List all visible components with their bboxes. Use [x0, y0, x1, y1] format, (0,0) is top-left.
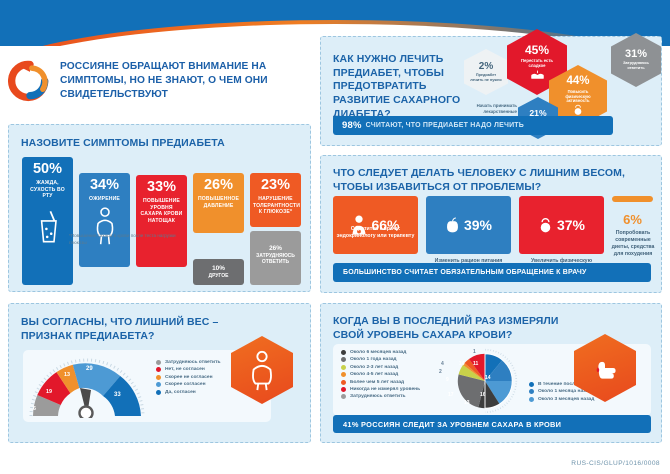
legend-dot-icon — [156, 367, 161, 372]
actions-summary-banner: БОЛЬШИНСТВО СЧИТАЕТ ОБЯЗАТЕЛЬНЫМ ОБРАЩЕН… — [333, 263, 651, 282]
symptom-extra-pct-1: 10% — [196, 265, 241, 272]
pie-value-14a: 14 — [485, 375, 491, 381]
symptom-extra-hard: 26% ЗАТРУДНЯЮСЬ ОТВЕТИТЬ — [250, 231, 301, 285]
infographic-page: РОССИЯНЕ ОБРАЩАЮТ ВНИМАНИЕ НА СИМПТОМЫ, … — [0, 0, 670, 474]
gauge-value-4: 33 — [114, 392, 121, 398]
symptom-extra-label-2: ЗАТРУДНЯЮСЬ ОТВЕТИТЬ — [253, 253, 298, 266]
page-header: РОССИЯНЕ ОБРАЩАЮТ ВНИМАНИЕ НА СИМПТОМЫ, … — [8, 52, 308, 110]
pie-chart — [451, 347, 519, 415]
circular-arrow-logo-icon — [8, 59, 52, 103]
action-label-66: Обратится к врачу: эндокринологу или тер… — [333, 226, 418, 240]
treatment-pct-45: 45% — [525, 44, 549, 56]
symptom-label-3: ПОВЫШЕНИЕ УРОВНЯ САХАРА КРОВИ НАТОЩАК — [139, 198, 184, 224]
symptoms-title: НАЗОВИТЕ СИМПТОМЫ ПРЕДИАБЕТА — [21, 137, 291, 151]
legend-label: Скорее согласен — [165, 382, 206, 387]
pie-value-14b: 14 — [459, 361, 465, 367]
legend-item: Более чем 5 лет назад — [341, 380, 420, 385]
treatment-summary-banner: 98% СЧИТАЮТ, ЧТО ПРЕДИАБЕТ НАДО ЛЕЧИТЬ — [333, 116, 613, 135]
action-card-66[interactable]: 66% — [333, 196, 418, 254]
symptoms-panel: НАЗОВИТЕ СИМПТОМЫ ПРЕДИАБЕТА 50% ЖАЖДА, … — [8, 124, 311, 292]
kettlebell-icon — [538, 217, 553, 234]
legend-item: Около 4-5 лет назад — [341, 372, 420, 377]
action-pct-37: 37% — [557, 217, 585, 233]
legend-dot-icon — [529, 389, 534, 394]
legend-dot-icon — [341, 372, 346, 377]
legend-dot-icon — [341, 380, 346, 385]
legend-label: Затрудняюсь ответить — [165, 360, 220, 365]
kettlebell-icon — [572, 104, 584, 116]
glass-of-water-icon — [36, 208, 60, 245]
gauge-value-0: 6 — [33, 406, 36, 412]
symptom-extra-pct-2: 26% — [253, 245, 298, 252]
pie-value-16: 16 — [480, 392, 486, 398]
gauge-value-2: 13 — [64, 372, 70, 378]
finger-blood-test-icon — [590, 353, 620, 383]
symptom-extra-label-1: ДРУГОЕ — [196, 273, 241, 279]
page-title: РОССИЯНЕ ОБРАЩАЮТ ВНИМАНИЕ НА СИМПТОМЫ, … — [60, 60, 308, 101]
legend-item: Около 3 месяцев назад — [529, 397, 609, 402]
pie-value-11: 11 — [473, 361, 478, 367]
actions-cards: 66% Обратится к врачу: эндокринологу или… — [333, 196, 653, 254]
legend-dot-icon — [156, 390, 161, 395]
obese-person-icon — [248, 350, 276, 391]
symptom-extra-other: 10% ДРУГОЕ — [193, 259, 244, 285]
legend-label: Никогда не измерял уровень — [350, 387, 420, 392]
action-bar-6[interactable] — [612, 196, 653, 202]
action-pct-39: 39% — [464, 217, 492, 233]
symptoms-footnote: *Повышение сахара в крови после теста на… — [69, 233, 177, 246]
treatment-label-2: Предиабет лечить не нужно — [470, 73, 502, 82]
action-card-39[interactable]: 39% — [426, 196, 511, 254]
blood-sugar-panel: КОГДА ВЫ В ПОСЛЕДНИЙ РАЗ ИЗМЕРЯЛИ СВОЙ У… — [320, 303, 662, 443]
treatment-label-44: Повысить физическую активность — [557, 89, 599, 104]
symptoms-bar-chart: 50% ЖАЖДА, СУХОСТЬ ВО РТУ 34% ОЖИРЕНИЕ — [22, 157, 300, 285]
treatment-panel: КАК НУЖНО ЛЕЧИТЬ ПРЕДИАБЕТ, ЧТОБЫ ПРЕДОТ… — [320, 36, 662, 146]
pie-value-9: 9 — [446, 377, 449, 383]
legend-dot-icon — [156, 375, 161, 380]
treatment-label-31: Затрудняюсь ответить — [618, 61, 654, 71]
pie-value-4: 4 — [441, 361, 444, 367]
treatment-pct-2: 2% — [479, 62, 493, 72]
legend-label: Около 1 года назад — [350, 357, 397, 362]
treatment-label-45: Перестать есть сладкое — [516, 58, 558, 68]
treatment-option-2[interactable]: 2% Предиабет лечить не нужно — [464, 49, 508, 95]
symptom-pct-5: 23% — [253, 178, 298, 193]
legend-dot-icon — [341, 387, 346, 392]
legend-dot-icon — [156, 382, 161, 387]
legend-dot-icon — [341, 394, 346, 399]
symptom-label-1: ЖАЖДА, СУХОСТЬ ВО РТУ — [25, 180, 70, 200]
legend-dot-icon — [341, 350, 346, 355]
legend-label: Нет, не согласен — [165, 367, 205, 372]
legend-item: Около 1 года назад — [341, 357, 420, 362]
treatment-option-31[interactable]: 31% Затрудняюсь ответить — [611, 33, 661, 87]
gauge-legend: Затрудняюсь ответить Нет, не согласен Ск… — [156, 360, 220, 397]
legend-label: Скорее не согласен — [165, 375, 213, 380]
gauge-panel: ВЫ СОГЛАСНЫ, ЧТО ЛИШНИЙ ВЕС – ПРИЗНАК ПР… — [8, 303, 311, 443]
legend-dot-icon — [529, 382, 534, 387]
action-pct-6: 6% — [612, 212, 653, 227]
gauge-chart — [27, 354, 147, 418]
legend-dot-icon — [156, 360, 161, 365]
legend-dot-icon — [341, 357, 346, 362]
legend-item: Да, согласен — [156, 390, 220, 395]
blood-sugar-summary-banner: 41% РОССИЯН СЛЕДИТ ЗА УРОВНЕМ САХАРА В К… — [333, 415, 651, 433]
legend-dot-icon — [341, 365, 346, 370]
legend-item: Нет, не согласен — [156, 367, 220, 372]
legend-item: Затрудняюсь ответить — [156, 360, 220, 365]
legend-item: Скорее согласен — [156, 382, 220, 387]
actions-panel: ЧТО СЛЕДУЕТ ДЕЛАТЬ ЧЕЛОВЕКУ С ЛИШНИМ ВЕС… — [320, 155, 662, 293]
legend-label: Около 4-5 лет назад — [350, 372, 398, 377]
treatment-banner-pct: 98% — [342, 120, 362, 131]
pie-value-2: 2 — [439, 369, 442, 375]
action-label-6: Попробовать современные диеты, средства … — [607, 230, 659, 258]
pie-value-13: 13 — [464, 400, 470, 406]
symptom-pct-3: 33% — [139, 180, 184, 195]
pie-value-1: 1 — [473, 349, 476, 355]
blood-sugar-title: КОГДА ВЫ В ПОСЛЕДНИЙ РАЗ ИЗМЕРЯЛИ СВОЙ У… — [333, 315, 583, 342]
pie-value-17: 17 — [448, 392, 454, 398]
legend-label: Около 2-3 лет назад — [350, 365, 398, 370]
legend-item: Около 6 месяцев назад — [341, 350, 420, 355]
gauge-title: ВЫ СОГЛАСНЫ, ЧТО ЛИШНИЙ ВЕС – ПРИЗНАК ПР… — [21, 316, 231, 343]
action-card-37[interactable]: 37% — [519, 196, 604, 254]
legend-item: Скорее не согласен — [156, 375, 220, 380]
treatment-pct-44: 44% — [566, 76, 589, 88]
gauge-value-1: 19 — [46, 389, 52, 395]
symptom-label-2: ОЖИРЕНИЕ — [82, 196, 127, 203]
legend-label: Затрудняюсь ответить — [350, 394, 405, 399]
symptom-pct-4: 26% — [196, 178, 241, 193]
footer-reference-code: RUS-CIS/GLUP/1016/0008 — [571, 460, 660, 467]
legend-label: Да, согласен — [165, 390, 196, 395]
symptom-label-5: НАРУШЕНИЕ ТОЛЕРАНТНОСТИ К ГЛЮКОЗЕ* — [253, 196, 298, 216]
legend-label: Около 6 месяцев назад — [350, 350, 406, 355]
legend-dot-icon — [529, 397, 534, 402]
legend-item: Затрудняюсь ответить — [341, 394, 420, 399]
legend-item: Около 2-3 лет назад — [341, 365, 420, 370]
apple-icon — [445, 217, 460, 234]
treatment-banner-text: СЧИТАЮТ, ЧТО ПРЕДИАБЕТ НАДО ЛЕЧИТЬ — [366, 122, 524, 129]
symptom-pct-1: 50% — [25, 162, 70, 177]
legend-item: Никогда не измерял уровень — [341, 387, 420, 392]
legend-label: Более чем 5 лет назад — [350, 380, 404, 385]
actions-title: ЧТО СЛЕДУЕТ ДЕЛАТЬ ЧЕЛОВЕКУ С ЛИШНИМ ВЕС… — [333, 167, 653, 194]
cake-icon — [530, 70, 545, 80]
pie-legend-left: Около 6 месяцев назад Около 1 года назад… — [341, 350, 420, 402]
treatment-pct-31: 31% — [625, 49, 647, 60]
symptom-label-4: ПОВЫШЕННОЕ ДАВЛЕНИЕ — [196, 196, 241, 209]
symptom-pct-2: 34% — [82, 178, 127, 193]
gauge-value-3: 29 — [86, 366, 93, 372]
legend-label: Около 3 месяцев назад — [538, 397, 594, 402]
